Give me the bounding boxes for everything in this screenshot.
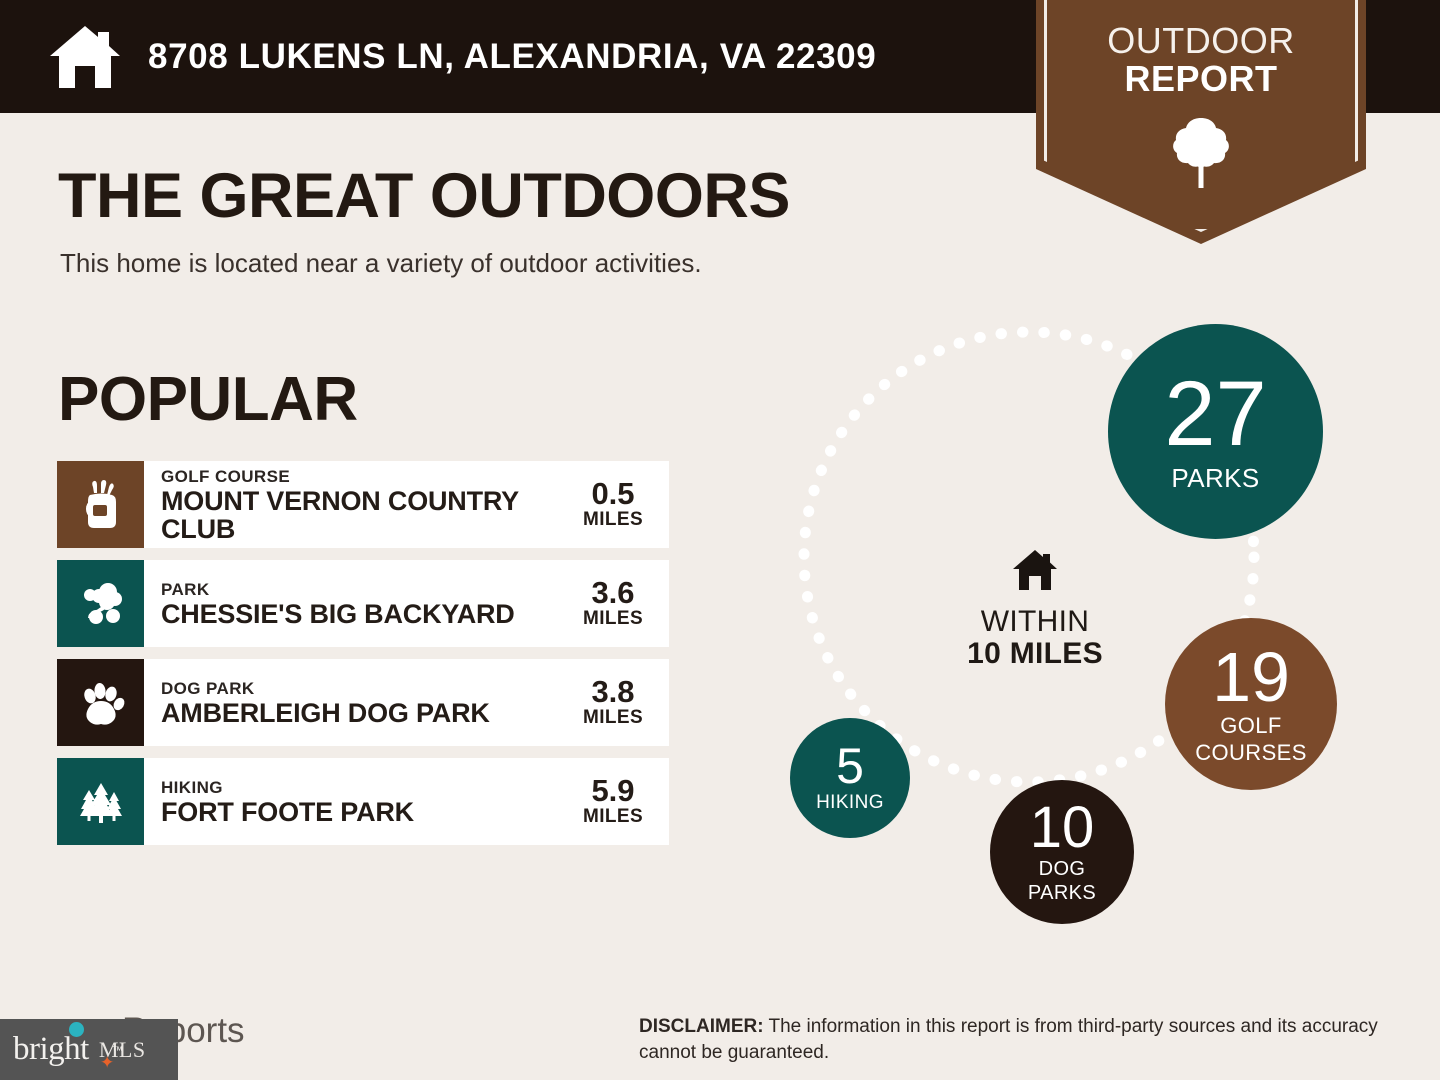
page-title: THE GREAT OUTDOORS bbox=[58, 160, 790, 232]
list-item-text: PARK CHESSIE'S BIG BACKYARD bbox=[161, 579, 569, 629]
disclaimer: DISCLAIMER: The information in this repo… bbox=[639, 1014, 1391, 1065]
bubble-hiking-value: 5 bbox=[836, 743, 864, 791]
bubble-golf-label-2: COURSES bbox=[1195, 741, 1307, 764]
list-item-text: GOLF COURSE MOUNT VERNON COUNTRY CLUB bbox=[161, 466, 569, 544]
list-item-text: DOG PARK AMBERLEIGH DOG PARK bbox=[161, 678, 569, 728]
list-item-distance: 0.5 MILES bbox=[569, 478, 657, 531]
list-item-tile bbox=[57, 659, 144, 746]
bubble-dog-parks-value: 10 bbox=[1030, 800, 1095, 855]
badge-line-2: REPORT bbox=[1124, 60, 1277, 98]
list-item[interactable]: HIKING FORT FOOTE PARK 5.9 MILES bbox=[57, 758, 669, 845]
golf-bag-icon bbox=[75, 479, 127, 531]
list-item-name: AMBERLEIGH DOG PARK bbox=[161, 699, 569, 727]
bubble-golf-value: 19 bbox=[1212, 644, 1290, 711]
list-item-category: PARK bbox=[161, 579, 569, 600]
bubble-dog-parks-label-1: DOG bbox=[1039, 859, 1086, 880]
list-item-tile bbox=[57, 461, 144, 548]
home-icon bbox=[48, 24, 122, 90]
section-title-popular: POPULAR bbox=[58, 364, 358, 435]
bubble-hiking-label: HIKING bbox=[816, 793, 884, 813]
pine-trees-icon bbox=[75, 776, 127, 828]
tree-icon bbox=[75, 578, 127, 630]
list-item-name: FORT FOOTE PARK bbox=[161, 798, 569, 826]
list-item-distance: 3.8 MILES bbox=[569, 676, 657, 729]
page-subtitle: This home is located near a variety of o… bbox=[60, 248, 702, 279]
bright-mls-logo: bright ✦ ™ MLS bbox=[0, 1019, 178, 1080]
badge-line-1: OUTDOOR bbox=[1107, 22, 1295, 60]
list-item-distance-unit: MILES bbox=[569, 806, 657, 828]
list-item-distance-value: 3.6 bbox=[569, 577, 657, 608]
bright-dot-icon bbox=[69, 1022, 84, 1037]
property-address: 8708 LUKENS LN, ALEXANDRIA, VA 22309 bbox=[148, 37, 876, 77]
home-icon bbox=[1012, 548, 1058, 592]
outdoor-report-badge: OUTDOOR REPORT bbox=[1036, 0, 1366, 244]
list-item-tile bbox=[57, 758, 144, 845]
disclaimer-label: DISCLAIMER: bbox=[639, 1016, 764, 1037]
list-item-distance-unit: MILES bbox=[569, 707, 657, 729]
list-item-distance-unit: MILES bbox=[569, 608, 657, 630]
list-item-distance: 3.6 MILES bbox=[569, 577, 657, 630]
bubble-golf-label-1: GOLF bbox=[1220, 714, 1282, 737]
bright-tm-mark: ™ bbox=[112, 1045, 123, 1057]
list-item-distance-value: 5.9 bbox=[569, 775, 657, 806]
chart-center-label: WITHIN 10 MILES bbox=[940, 548, 1130, 669]
list-item-text: HIKING FORT FOOTE PARK bbox=[161, 777, 569, 827]
list-item-distance-value: 0.5 bbox=[569, 478, 657, 509]
bubble-parks-label: PARKS bbox=[1171, 465, 1259, 492]
list-item-body: DOG PARK AMBERLEIGH DOG PARK 3.8 MILES bbox=[144, 659, 669, 746]
list-item-category: GOLF COURSE bbox=[161, 466, 569, 487]
list-item-name: CHESSIE'S BIG BACKYARD bbox=[161, 600, 569, 628]
list-item[interactable]: GOLF COURSE MOUNT VERNON COUNTRY CLUB 0.… bbox=[57, 461, 669, 548]
bubble-dog-parks-label-2: PARKS bbox=[1028, 883, 1096, 904]
list-item-category: HIKING bbox=[161, 777, 569, 798]
outdoor-report-page: 8708 LUKENS LN, ALEXANDRIA, VA 22309 OUT… bbox=[0, 0, 1440, 1080]
list-item-body: PARK CHESSIE'S BIG BACKYARD 3.6 MILES bbox=[144, 560, 669, 647]
list-item-body: HIKING FORT FOOTE PARK 5.9 MILES bbox=[144, 758, 669, 845]
bright-mls-wordmark: bright ✦ ™ bbox=[0, 1031, 89, 1068]
list-item-distance-value: 3.8 bbox=[569, 676, 657, 707]
chart-center-line-2: 10 MILES bbox=[967, 638, 1103, 670]
chart-center-line-1: WITHIN bbox=[981, 606, 1089, 638]
list-item-body: GOLF COURSE MOUNT VERNON COUNTRY CLUB 0.… bbox=[144, 461, 669, 548]
bubble-parks[interactable]: 27 PARKS bbox=[1108, 324, 1323, 539]
bubble-golf-courses[interactable]: 19 GOLF COURSES bbox=[1165, 618, 1337, 790]
tree-icon bbox=[1170, 116, 1232, 190]
bubble-parks-value: 27 bbox=[1164, 371, 1266, 458]
paw-icon bbox=[75, 677, 127, 729]
list-item-tile bbox=[57, 560, 144, 647]
list-item-distance-unit: MILES bbox=[569, 509, 657, 531]
bubble-hiking[interactable]: 5 HIKING bbox=[790, 718, 910, 838]
list-item[interactable]: DOG PARK AMBERLEIGH DOG PARK 3.8 MILES bbox=[57, 659, 669, 746]
bubble-dog-parks[interactable]: 10 DOG PARKS bbox=[990, 780, 1134, 924]
list-item-category: DOG PARK bbox=[161, 678, 569, 699]
list-item[interactable]: PARK CHESSIE'S BIG BACKYARD 3.6 MILES bbox=[57, 560, 669, 647]
list-item-name: MOUNT VERNON COUNTRY CLUB bbox=[161, 487, 569, 544]
list-item-distance: 5.9 MILES bbox=[569, 775, 657, 828]
amenities-bubble-chart: 27 PARKS 19 GOLF COURSES 10 DOG PARKS 5 … bbox=[740, 300, 1420, 960]
popular-list: GOLF COURSE MOUNT VERNON COUNTRY CLUB 0.… bbox=[57, 461, 669, 857]
